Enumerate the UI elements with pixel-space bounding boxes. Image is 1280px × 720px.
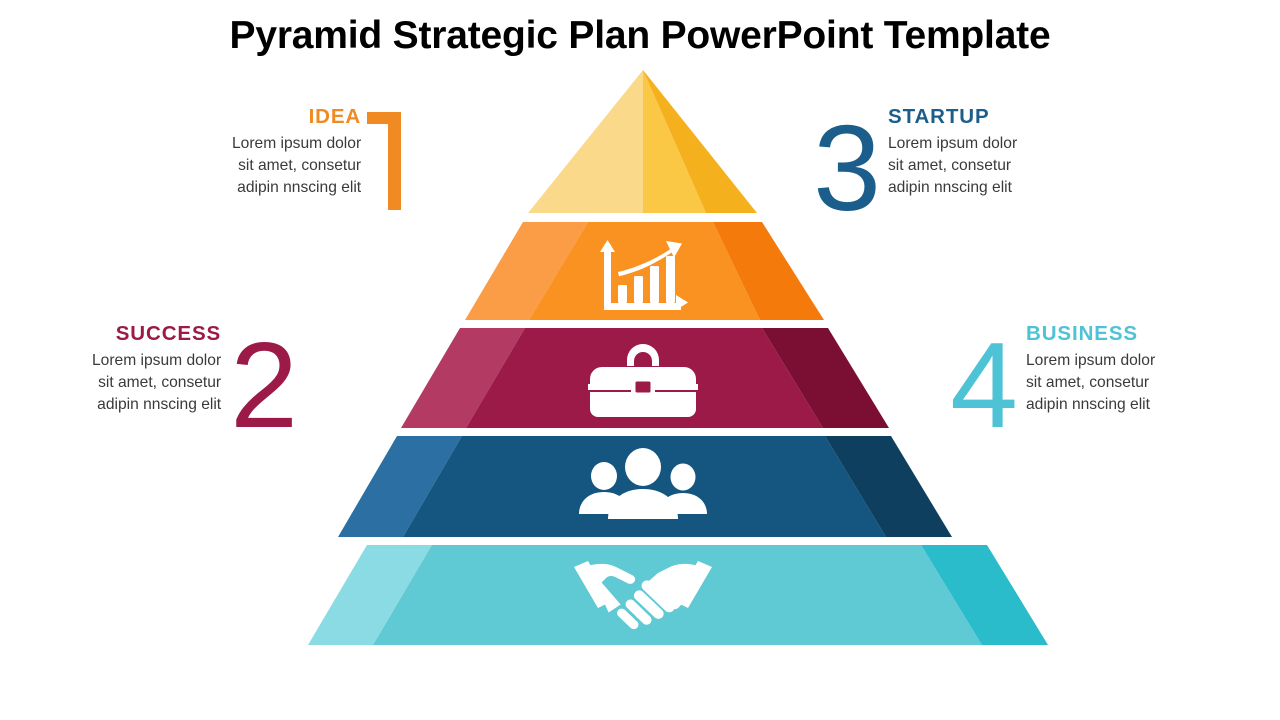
pyramid-level-success[interactable] [401,328,889,428]
callout-startup-body: Lorem ipsum dolor sit amet, consetur adi… [888,133,1017,199]
pyramid-level-idea[interactable] [528,70,757,213]
callout-idea[interactable]: IDEA Lorem ipsum dolor sit amet, consetu… [232,106,417,221]
callout-business-body: Lorem ipsum dolor sit amet, consetur adi… [1026,350,1155,416]
pyramid-level-startup[interactable] [465,222,824,320]
callout-business-heading: BUSINESS [1026,323,1138,345]
svg-text:2: 2 [230,323,298,439]
callout-business-number: 4 [942,323,1026,444]
callout-startup[interactable]: 3 STARTUP Lorem ipsum dolor sit amet, co… [806,106,1017,227]
callout-idea-number [361,106,417,221]
callout-success-heading: SUCCESS [116,323,221,345]
callout-idea-heading: IDEA [309,106,362,128]
callout-success[interactable]: SUCCESS Lorem ipsum dolor sit amet, cons… [92,323,307,444]
svg-text:3: 3 [813,106,881,222]
svg-text:4: 4 [950,323,1018,439]
callout-startup-number: 3 [806,106,888,227]
callout-success-body: Lorem ipsum dolor sit amet, consetur adi… [92,350,221,416]
slide-canvas: Pyramid Strategic Plan PowerPoint Templa… [0,0,1280,720]
pyramid-level-team[interactable] [338,436,952,537]
callout-business[interactable]: 4 BUSINESS Lorem ipsum dolor sit amet, c… [942,323,1155,444]
pyramid-level-partnership[interactable] [308,545,1048,645]
callout-idea-body: Lorem ipsum dolor sit amet, consetur adi… [232,133,361,199]
callout-startup-heading: STARTUP [888,106,990,128]
level-idea-facet-left [528,70,643,213]
callout-success-number: 2 [221,323,307,444]
